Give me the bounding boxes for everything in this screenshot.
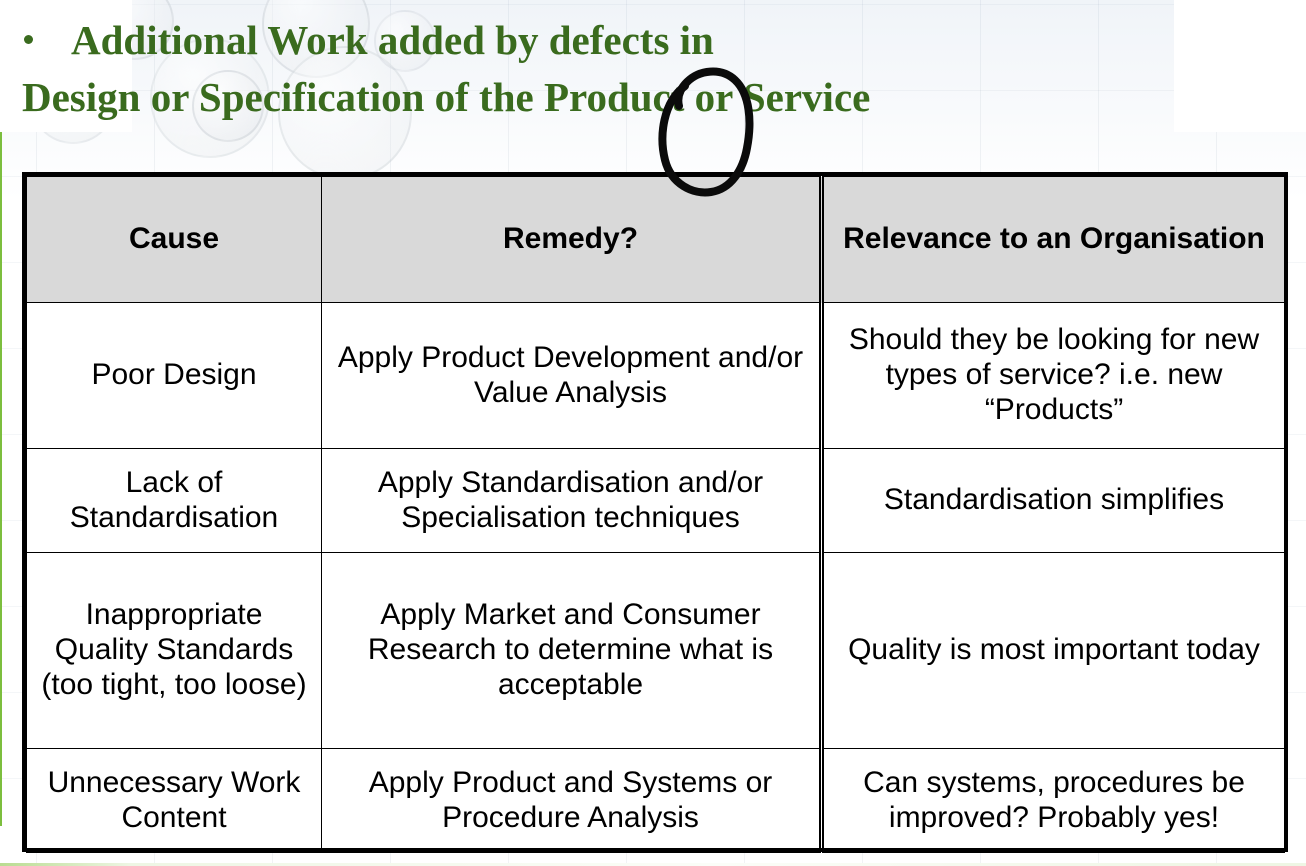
cell-cause: Inappropriate Quality Standards (too tig… bbox=[27, 553, 322, 749]
table-header: Cause Remedy? Relevance to an Organisati… bbox=[27, 177, 1285, 303]
title-line-1-row: Additional Work added by defects in bbox=[0, 12, 1306, 68]
cell-relevance: Can systems, procedures be improved? Pro… bbox=[822, 749, 1285, 853]
table-body: Poor Design Apply Product Development an… bbox=[27, 303, 1285, 853]
cell-relevance: Standardisation simplifies bbox=[822, 449, 1285, 553]
causes-remedies-table: Cause Remedy? Relevance to an Organisati… bbox=[22, 172, 1288, 852]
cell-cause: Poor Design bbox=[27, 303, 322, 449]
column-header-remedy: Remedy? bbox=[322, 177, 822, 303]
cell-relevance: Should they be looking for new types of … bbox=[822, 303, 1285, 449]
title-line-1-text: Additional Work added by defects in bbox=[71, 12, 714, 68]
table-row: Lack of Standardisation Apply Standardis… bbox=[27, 449, 1285, 553]
cell-remedy: Apply Product and Systems or Procedure A… bbox=[322, 749, 822, 853]
cell-remedy: Apply Market and Consumer Research to de… bbox=[322, 553, 822, 749]
bullet-icon bbox=[24, 35, 33, 44]
slide-frame-left-edge bbox=[0, 86, 2, 826]
column-header-relevance: Relevance to an Organisation bbox=[822, 177, 1285, 303]
table: Cause Remedy? Relevance to an Organisati… bbox=[26, 176, 1285, 853]
table-row: Poor Design Apply Product Development an… bbox=[27, 303, 1285, 449]
table-header-row: Cause Remedy? Relevance to an Organisati… bbox=[27, 177, 1285, 303]
title-line-2-text: Design or Specification of the Product o… bbox=[22, 68, 1306, 126]
cell-remedy: Apply Standardisation and/or Specialisat… bbox=[322, 449, 822, 553]
slide-title: Additional Work added by defects in Desi… bbox=[0, 12, 1306, 126]
cell-relevance: Quality is most important today bbox=[822, 553, 1285, 749]
column-header-cause: Cause bbox=[27, 177, 322, 303]
cell-cause: Lack of Standardisation bbox=[27, 449, 322, 553]
table-row: Inappropriate Quality Standards (too tig… bbox=[27, 553, 1285, 749]
cell-cause: Unnecessary Work Content bbox=[27, 749, 322, 853]
table-row: Unnecessary Work Content Apply Product a… bbox=[27, 749, 1285, 853]
presentation-slide: 0.15 Additional Work added by defects in… bbox=[0, 0, 1306, 866]
cell-remedy: Apply Product Development and/or Value A… bbox=[322, 303, 822, 449]
